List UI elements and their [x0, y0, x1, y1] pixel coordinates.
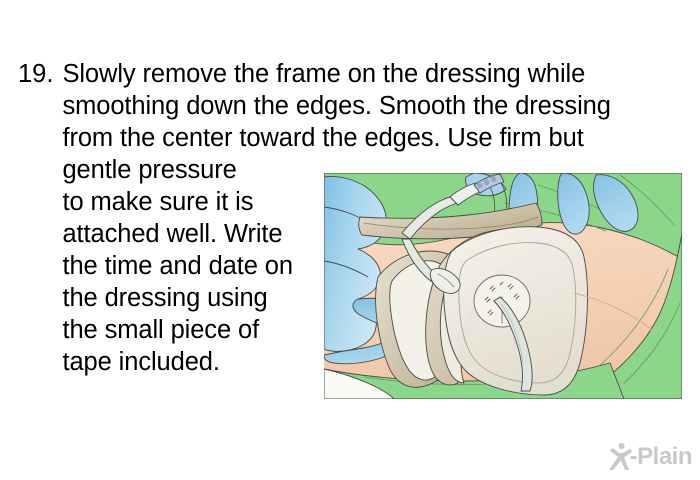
logo-text: -Plain [630, 445, 692, 469]
illustration-svg [324, 173, 682, 399]
step-number: 19. [18, 58, 62, 90]
x-plain-logo: -Plain [607, 442, 692, 472]
step-text-line: Slowly remove the frame on the dressing … [62, 58, 690, 90]
wound-dressing-illustration [324, 173, 682, 399]
slide-canvas: 19. Slowly remove the frame on the dress… [0, 0, 700, 480]
step-text-line: from the center toward the edges. Use fi… [62, 122, 690, 154]
step-text-line: smoothing down the edges. Smooth the dre… [62, 90, 690, 122]
